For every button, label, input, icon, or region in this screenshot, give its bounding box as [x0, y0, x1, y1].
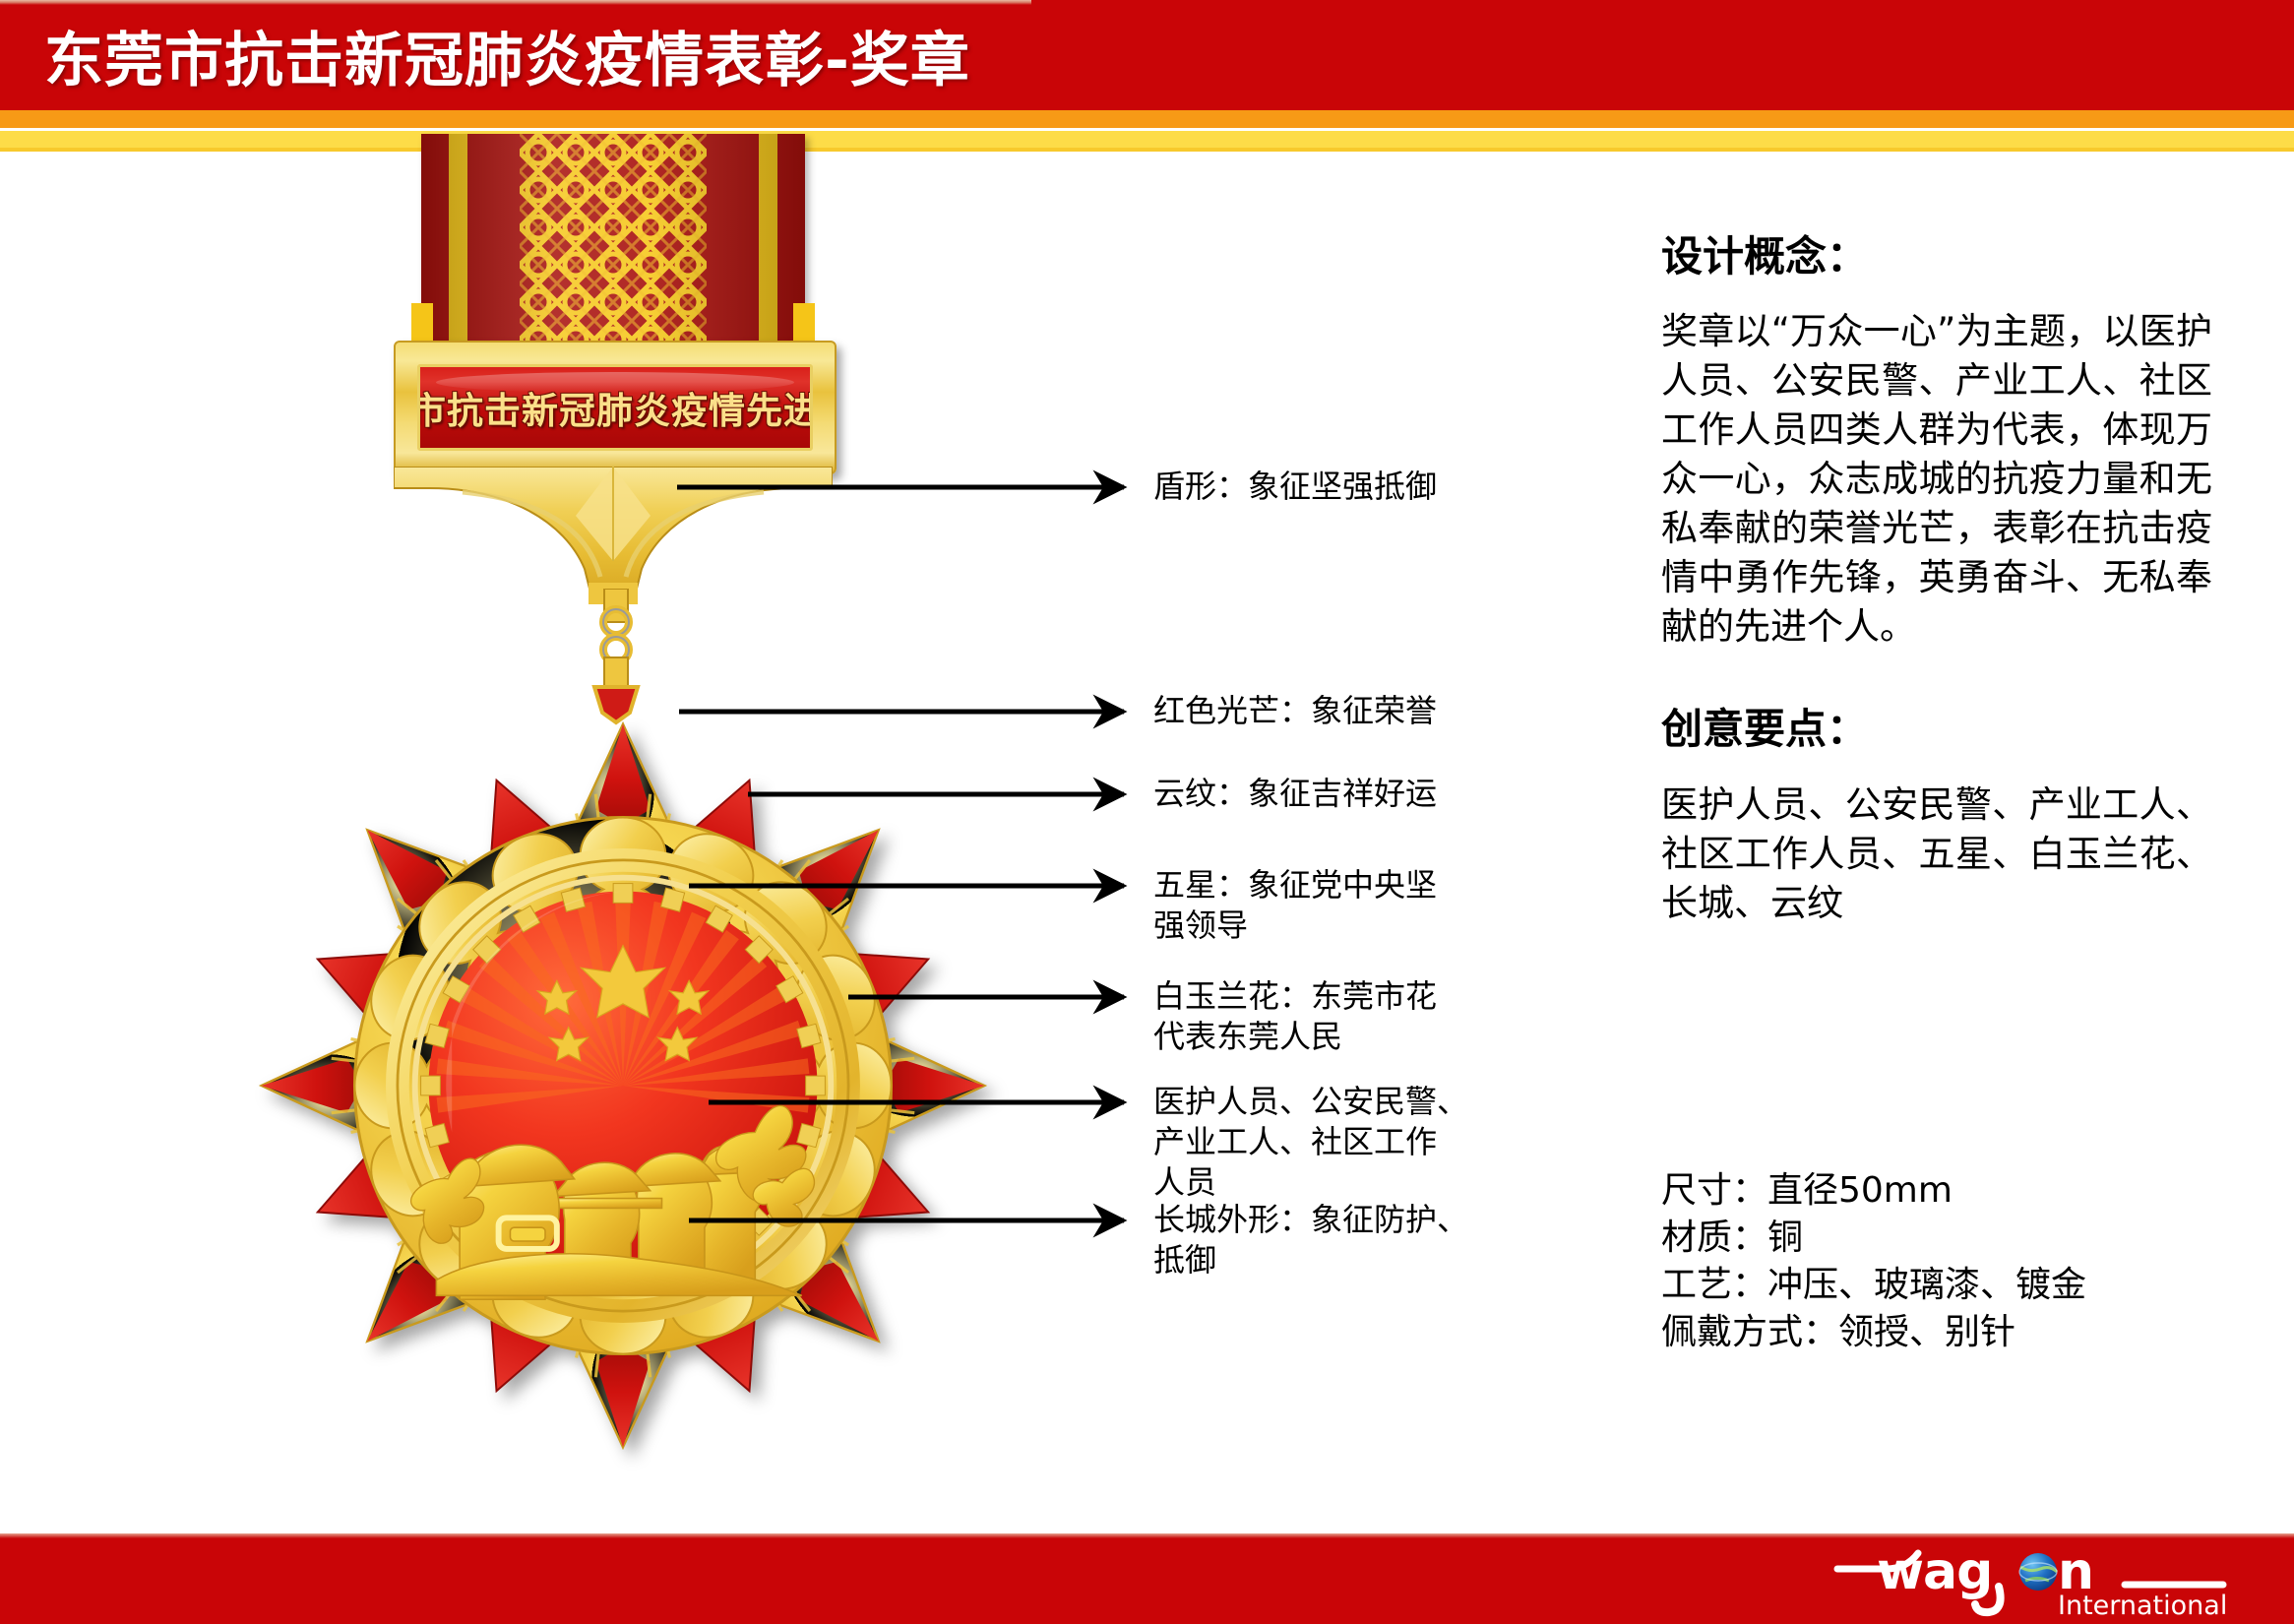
design-concept-heading: 设计概念： [1661, 232, 2212, 281]
footer-top-rule [0, 1533, 2294, 1538]
callout-label-clouds: 云纹：象征吉祥好运 [1153, 774, 1437, 814]
spec-wearing: 佩戴方式：领授、别针 [1661, 1309, 2271, 1356]
callout-label-wall: 长城外形：象征防护、 抵御 [1153, 1200, 1468, 1280]
page-title: 东莞市抗击新冠肺炎疫情表彰-奖章 [44, 14, 1520, 96]
callout-label-shield: 盾形：象征坚强抵御 [1153, 467, 1437, 507]
callout-label-people: 医护人员、公安民警、 产业工人、社区工作 人员 [1153, 1082, 1468, 1203]
svg-text:International: International [2058, 1591, 2227, 1620]
wagon-logo: wag n International [1829, 1539, 2243, 1620]
info-column: 设计概念： 奖章以“万众一心”为主题，以医护人员、公安民警、产业工人、社区工作人… [1661, 232, 2212, 928]
specifications-block: 尺寸：直径50mm 材质：铜 工艺：冲压、玻璃漆、镀金 佩戴方式：领授、别针 [1661, 1167, 2271, 1356]
spec-process: 工艺：冲压、玻璃漆、镀金 [1661, 1262, 2271, 1309]
creative-points-heading: 创意要点： [1661, 705, 2212, 754]
design-concept-body: 奖章以“万众一心”为主题，以医护人员、公安民警、产业工人、社区工作人员四类人群为… [1661, 307, 2212, 652]
creative-points-body: 医护人员、公安民警、产业工人、社区工作人员、五星、白玉兰花、长城、云纹 [1661, 781, 2212, 928]
clasp-red-panel: 东莞市抗击新冠肺炎疫情先进个人 [417, 364, 813, 451]
page-header: 东莞市抗击新冠肺炎疫情表彰-奖章 [0, 0, 2294, 110]
medal-clasp-bar: 东莞市抗击新冠肺炎疫情先进个人 [394, 341, 837, 474]
clasp-inscription: 东莞市抗击新冠肺炎疫情先进个人 [417, 381, 813, 434]
ribbon-shading [421, 134, 805, 344]
callout-label-stars: 五星：象征党中央坚 强领导 [1153, 865, 1437, 946]
medal-illustration: 东莞市抗击新冠肺炎疫情先进个人 [148, 126, 1083, 1405]
callout-label-rays: 红色光芒：象征荣誉 [1153, 691, 1437, 731]
medal-ribbon [421, 134, 805, 344]
svg-text:wag: wag [1877, 1542, 1992, 1601]
callout-label-magnolia: 白玉兰花：东莞市花 代表东莞人民 [1153, 976, 1437, 1057]
medal-body [234, 697, 1012, 1474]
spec-material: 材质：铜 [1661, 1215, 2271, 1262]
spec-size: 尺寸：直径50mm [1661, 1167, 2271, 1215]
page-footer: wag n International [0, 1533, 2294, 1624]
medal-shield [394, 467, 833, 604]
header-top-rule [0, 0, 1031, 5]
